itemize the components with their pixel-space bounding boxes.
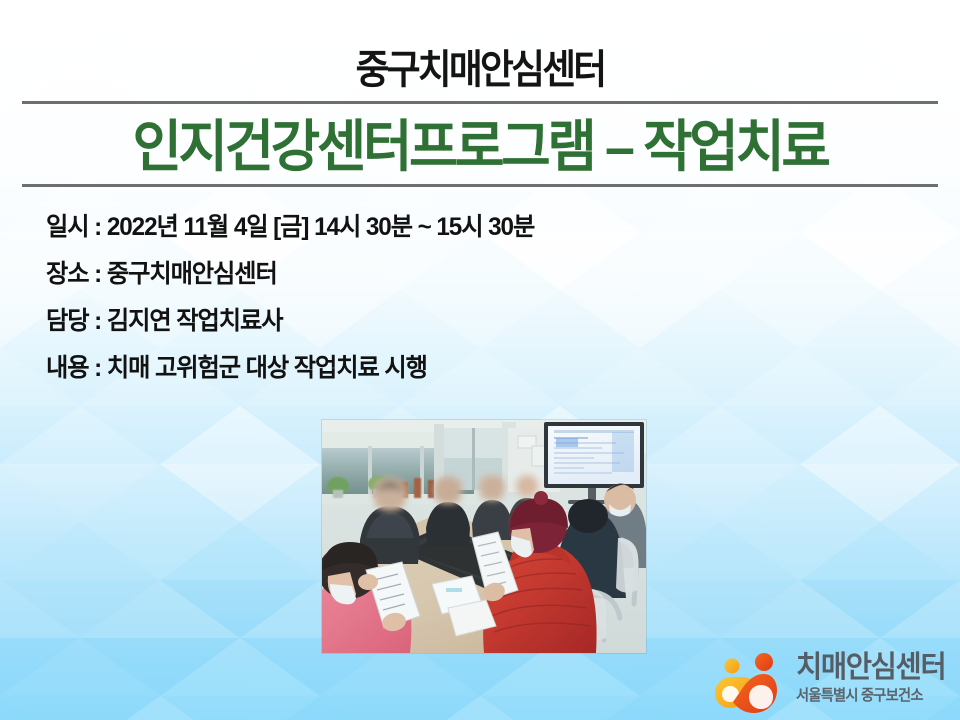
page-title: 인지건강센터프로그램 – 작업치료 — [40, 113, 919, 181]
detail-row-location: 장소 : 중구치매안심센터 — [46, 261, 725, 287]
detail-row-datetime: 일시 : 2022년 11월 4일 [금] 14시 30분 ~ 15시 30분 — [46, 214, 725, 240]
logo-subtitle: 서울특별시 중구보건소 — [796, 686, 945, 706]
two-people-infinity-mark — [712, 652, 790, 714]
organization-name: 중구치매안심센터 — [38, 46, 921, 94]
detail-list: 일시 : 2022년 11월 4일 [금] 14시 30분 ~ 15시 30분 … — [46, 214, 746, 402]
slide-root: 중구치매안심센터 인지건강센터프로그램 – 작업치료 일시 : 2022년 11… — [0, 0, 960, 720]
activity-photo — [322, 420, 646, 653]
detail-row-content: 내용 : 치매 고위험군 대상 작업치료 시행 — [46, 355, 725, 381]
divider-bottom — [22, 184, 938, 187]
center-logo: 치매안심센터 서울특별시 중구보건소 — [712, 650, 952, 716]
divider-top — [22, 101, 938, 104]
detail-row-staff: 담당 : 김지연 작업치료사 — [46, 308, 725, 334]
logo-title: 치매안심센터 — [796, 650, 945, 686]
logo-text-block: 치매안심센터 서울특별시 중구보건소 — [796, 650, 953, 706]
